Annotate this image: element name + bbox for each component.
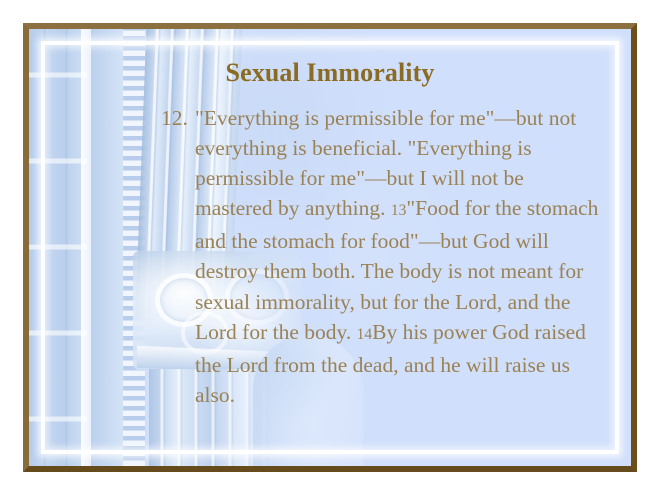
- list-item-text: "Everything is permissible for me"—but n…: [195, 106, 598, 407]
- list-item-number: 12.: [161, 103, 188, 133]
- verse-number: 14: [357, 326, 373, 343]
- slide: Sexual Immorality 12. "Everything is per…: [0, 0, 660, 495]
- slide-frame: Sexual Immorality 12. "Everything is per…: [23, 23, 637, 472]
- slide-title: Sexual Immorality: [29, 59, 631, 88]
- slide-content: Sexual Immorality 12. "Everything is per…: [29, 29, 631, 466]
- verse-number: 13: [391, 202, 407, 219]
- slide-body: 12. "Everything is permissible for me"—b…: [161, 103, 605, 410]
- list-item: 12. "Everything is permissible for me"—b…: [161, 103, 605, 410]
